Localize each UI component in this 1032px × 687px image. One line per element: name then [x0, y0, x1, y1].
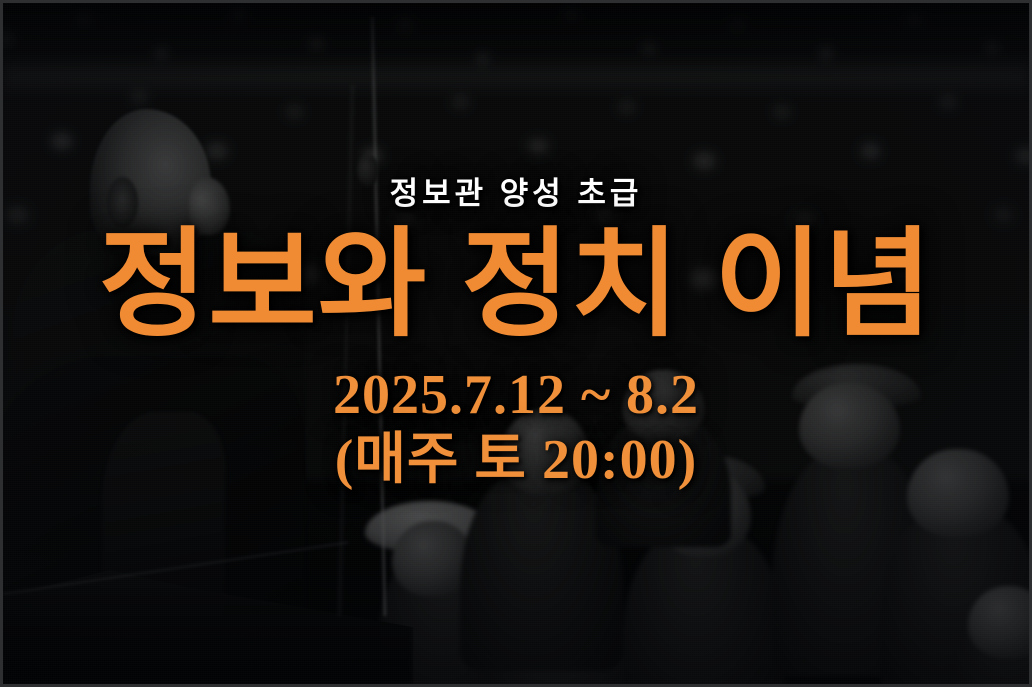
weekly-schedule: (매주 토 20:00) — [333, 428, 699, 493]
poster-canvas: 정보관 양성 초급 정보와 정치 이념 2025.7.12 ~ 8.2 (매주 … — [0, 0, 1032, 687]
course-title: 정보와 정치 이념 — [99, 225, 934, 345]
schedule-block: 2025.7.12 ~ 8.2 (매주 토 20:00) — [333, 363, 699, 493]
microphone-head — [357, 156, 379, 186]
top-vignette — [3, 3, 1029, 85]
course-subtitle: 정보관 양성 초급 — [390, 178, 643, 209]
date-range: 2025.7.12 ~ 8.2 — [333, 364, 699, 426]
